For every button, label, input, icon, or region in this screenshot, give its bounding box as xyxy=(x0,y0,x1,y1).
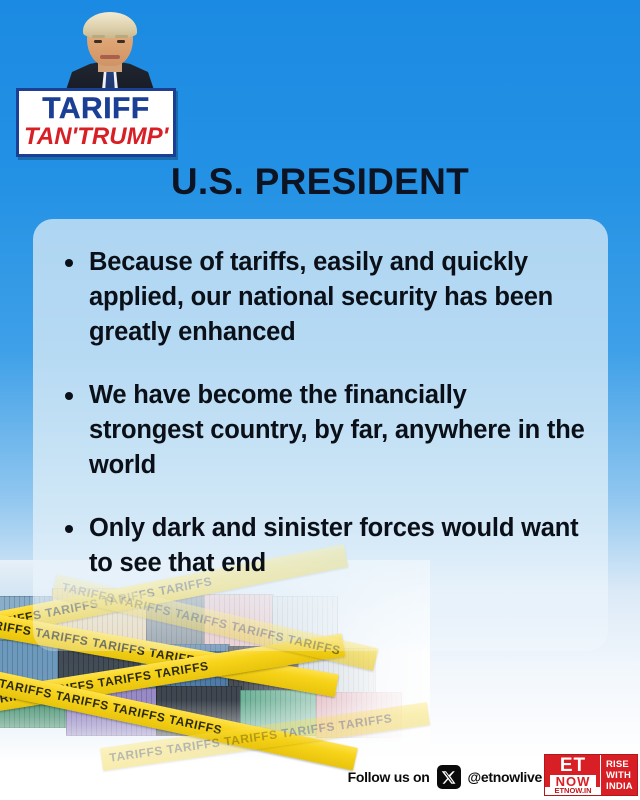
list-item: Only dark and sinister forces would want… xyxy=(57,511,586,581)
poster-canvas: TARIFFS TARIFFS TARIFFS TARIFFS TARIFFS … xyxy=(0,0,640,800)
portrait-mouth xyxy=(100,55,120,59)
page-title: U.S. PRESIDENT xyxy=(0,161,640,203)
list-item: We have become the financially strongest… xyxy=(57,378,586,483)
portrait-eye xyxy=(117,40,125,43)
tagline-line-1: RISE xyxy=(606,759,637,770)
etnow-et-text: ET xyxy=(545,756,601,775)
social-handle[interactable]: @etnowlive xyxy=(468,769,542,785)
etnow-site-text: ETNOW.IN xyxy=(545,787,601,795)
x-icon[interactable] xyxy=(437,765,461,789)
logo-line-tariff: TARIFF xyxy=(24,94,168,124)
etnow-logo[interactable]: ET NOW ETNOW.IN RISE WITH INDIA xyxy=(544,754,638,796)
portrait-brow xyxy=(92,35,105,38)
portrait-brow xyxy=(115,35,128,38)
footer-bar: Follow us on @etnowlive ET NOW ETNOW.IN … xyxy=(0,754,640,800)
portrait-hair xyxy=(83,12,137,38)
logo-line-tantrump: TAN'TRUMP' xyxy=(24,124,168,149)
tagline-line-3: INDIA xyxy=(606,781,637,792)
tariff-tantrump-logo: TARIFF TAN'TRUMP' xyxy=(16,88,176,157)
tagline-line-2: WITH xyxy=(606,770,637,781)
follow-us-group: Follow us on @etnowlive xyxy=(348,765,542,789)
follow-us-label: Follow us on xyxy=(348,769,430,785)
quote-bullet-list: Because of tariffs, easily and quickly a… xyxy=(57,245,586,581)
etnow-logo-mark: ET NOW ETNOW.IN xyxy=(545,755,601,795)
portrait-eye xyxy=(94,40,102,43)
list-item: Because of tariffs, easily and quickly a… xyxy=(57,245,586,350)
etnow-tagline: RISE WITH INDIA xyxy=(601,755,637,795)
quote-card: Because of tariffs, easily and quickly a… xyxy=(33,219,608,651)
